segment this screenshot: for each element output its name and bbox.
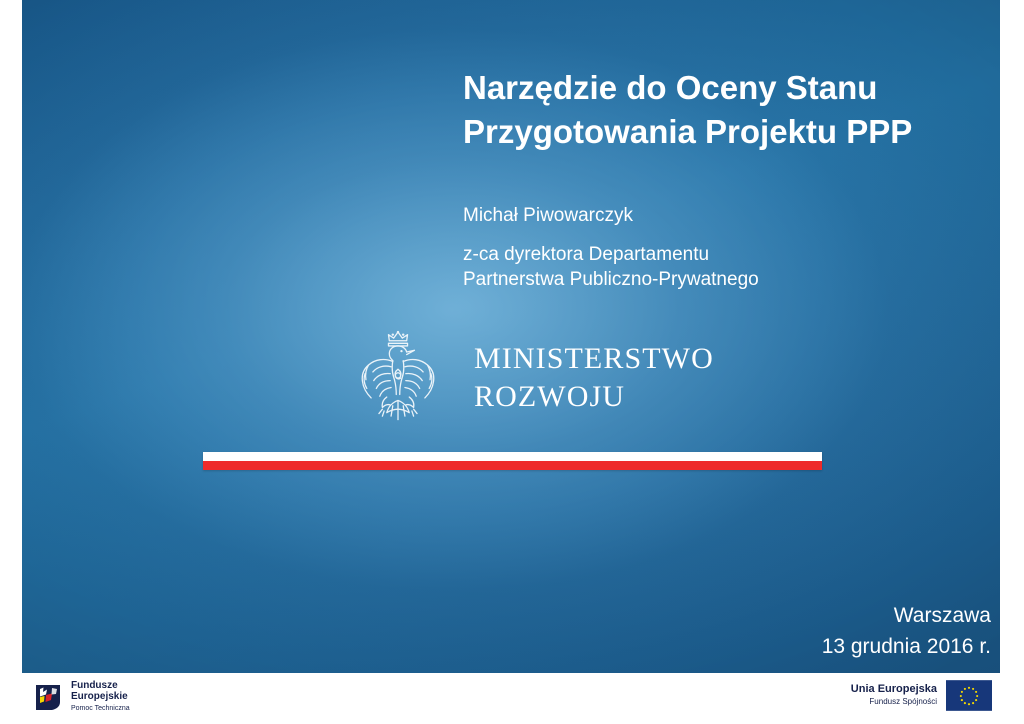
polish-eagle-emblem-icon — [346, 326, 450, 430]
fundusze-europejskie-logo-icon — [33, 682, 63, 712]
footer-left-text: Fundusze Europejskie Pomoc Techniczna — [71, 680, 130, 714]
ministry-name-line-1: MINISTERSTWO — [474, 340, 714, 378]
footer-left-logo: Fundusze Europejskie Pomoc Techniczna — [33, 680, 130, 714]
flag-red-stripe — [203, 461, 822, 470]
ue-line-2: Fundusz Spójności — [851, 696, 937, 708]
ue-line-1: Unia Europejska — [851, 683, 937, 696]
place-date: 13 grudnia 2016 r. — [822, 631, 991, 662]
ministry-logo: MINISTERSTWO ROZWOJU — [346, 326, 714, 430]
ministry-name-line-2: ROZWOJU — [474, 378, 714, 416]
fe-line-2: Europejskie — [71, 691, 130, 702]
place-and-date: Warszawa 13 grudnia 2016 r. — [822, 600, 991, 662]
fe-line-3: Pomoc Techniczna — [71, 703, 130, 714]
flag-white-stripe — [203, 452, 822, 461]
speaker-name: Michał Piwowarczyk — [463, 203, 943, 229]
eu-flag-icon — [946, 680, 992, 711]
slide-footer: Fundusze Europejskie Pomoc Techniczna Un… — [0, 673, 1024, 724]
speaker-role-line-2: Partnerstwa Publiczno-Prywatnego — [463, 267, 943, 292]
title-line-2: Przygotowania Projektu PPP — [463, 110, 983, 154]
speaker-info: Michał Piwowarczyk z-ca dyrektora Depart… — [463, 203, 943, 292]
footer-right-text: Unia Europejska Fundusz Spójności — [851, 683, 937, 708]
page-title: Narzędzie do Oceny Stanu Przygotowania P… — [463, 66, 983, 154]
presentation-slide: Narzędzie do Oceny Stanu Przygotowania P… — [0, 0, 1024, 724]
ministry-name: MINISTERSTWO ROZWOJU — [474, 340, 714, 416]
fe-line-1: Fundusze — [71, 680, 130, 691]
polish-flag-bar — [203, 452, 822, 470]
place-city: Warszawa — [822, 600, 991, 631]
title-line-1: Narzędzie do Oceny Stanu — [463, 66, 983, 110]
speaker-role-line-1: z-ca dyrektora Departamentu — [463, 242, 943, 267]
footer-right-logo: Unia Europejska Fundusz Spójności — [851, 680, 992, 711]
